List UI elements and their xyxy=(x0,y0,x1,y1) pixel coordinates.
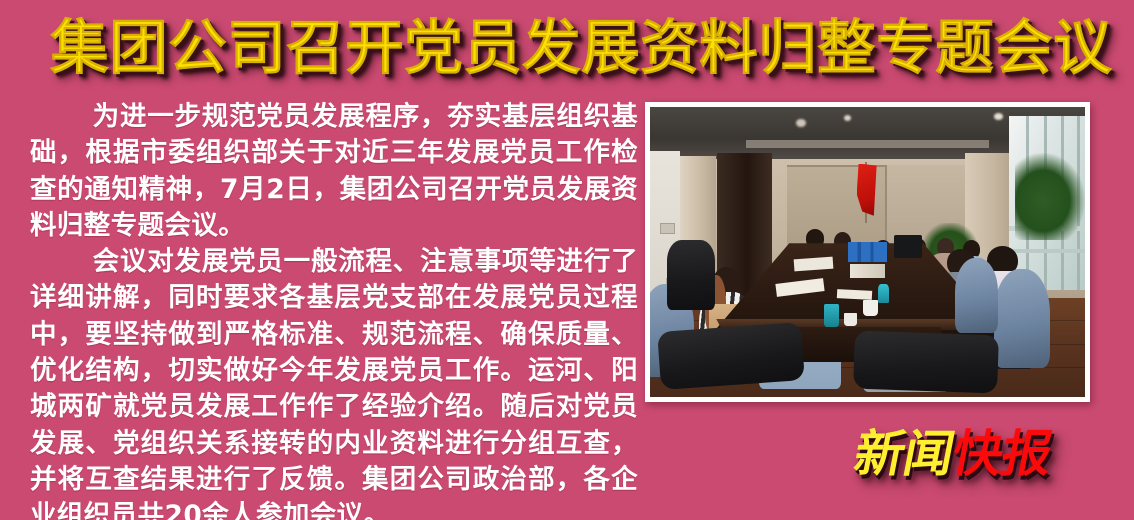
photo-chair xyxy=(853,331,998,394)
photo-documents xyxy=(837,289,872,300)
headline-char: 归 xyxy=(758,12,816,84)
headline-char: 专 xyxy=(877,12,935,84)
photo-ceiling-band xyxy=(746,140,990,147)
photo-wall-switch xyxy=(660,223,675,234)
news-poster: 集 团 公 司 召 开 党 员 发 展 资 料 归 整 专 题 会 议 为进一步… xyxy=(0,0,1134,520)
meeting-photo xyxy=(650,107,1085,397)
paragraph-text: 会议对发展党员一般流程、注意事项等进行了详细讲解，同时要求各基层党支部在发展党员… xyxy=(30,246,638,520)
article-body: 为进一步规范党员发展程序，夯实基层组织基础，根据市委组织部关于对近三年发展党员工… xyxy=(30,99,638,520)
photo-chair xyxy=(955,258,999,333)
meeting-photo-frame xyxy=(645,102,1090,402)
headline-char: 议 xyxy=(1054,12,1112,84)
photo-binders xyxy=(850,264,885,279)
headline-char: 会 xyxy=(995,12,1053,84)
headline-char: 召 xyxy=(286,12,344,84)
photo-chair xyxy=(667,240,715,310)
photo-documents xyxy=(793,256,833,270)
photo-cup xyxy=(863,300,878,316)
photo-bottle xyxy=(878,284,888,303)
photo-cup xyxy=(824,304,839,327)
headline-char: 资 xyxy=(640,12,698,84)
headline-char: 司 xyxy=(227,12,285,84)
headline-char: 题 xyxy=(936,12,994,84)
photo-monitor xyxy=(894,235,922,258)
brand-logo: 新闻快报 xyxy=(849,423,1057,485)
headline-char: 公 xyxy=(168,12,226,84)
headline-char: 开 xyxy=(345,12,403,84)
photo-cup xyxy=(844,313,857,326)
photo-binders xyxy=(848,242,887,262)
article-paragraph-2: 会议对发展党员一般流程、注意事项等进行了详细讲解，同时要求各基层党支部在发展党员… xyxy=(30,244,638,520)
headline-char: 展 xyxy=(581,12,639,84)
headline-char: 团 xyxy=(109,12,167,84)
page-title: 集 团 公 司 召 开 党 员 发 展 资 料 归 整 专 题 会 议 xyxy=(50,12,1084,84)
photo-plant xyxy=(1015,153,1085,240)
photo-ceiling-light-icon xyxy=(844,115,852,121)
paragraph-text: 为进一步规范党员发展程序，夯实基层组织基础，根据市委组织部关于对近三年发展党员工… xyxy=(30,101,638,241)
headline-char: 料 xyxy=(699,12,757,84)
article-paragraph-1: 为进一步规范党员发展程序，夯实基层组织基础，根据市委组织部关于对近三年发展党员工… xyxy=(30,99,638,244)
headline-char: 整 xyxy=(817,12,875,84)
photo-chair xyxy=(994,269,1051,368)
brand-logo-express: 快报 xyxy=(947,423,1057,485)
brand-logo-news: 新闻 xyxy=(849,423,959,485)
headline-char: 党 xyxy=(404,12,462,84)
headline-char: 集 xyxy=(50,12,108,84)
headline-char: 发 xyxy=(522,12,580,84)
photo-chair xyxy=(657,322,804,390)
headline-char: 员 xyxy=(463,12,521,84)
